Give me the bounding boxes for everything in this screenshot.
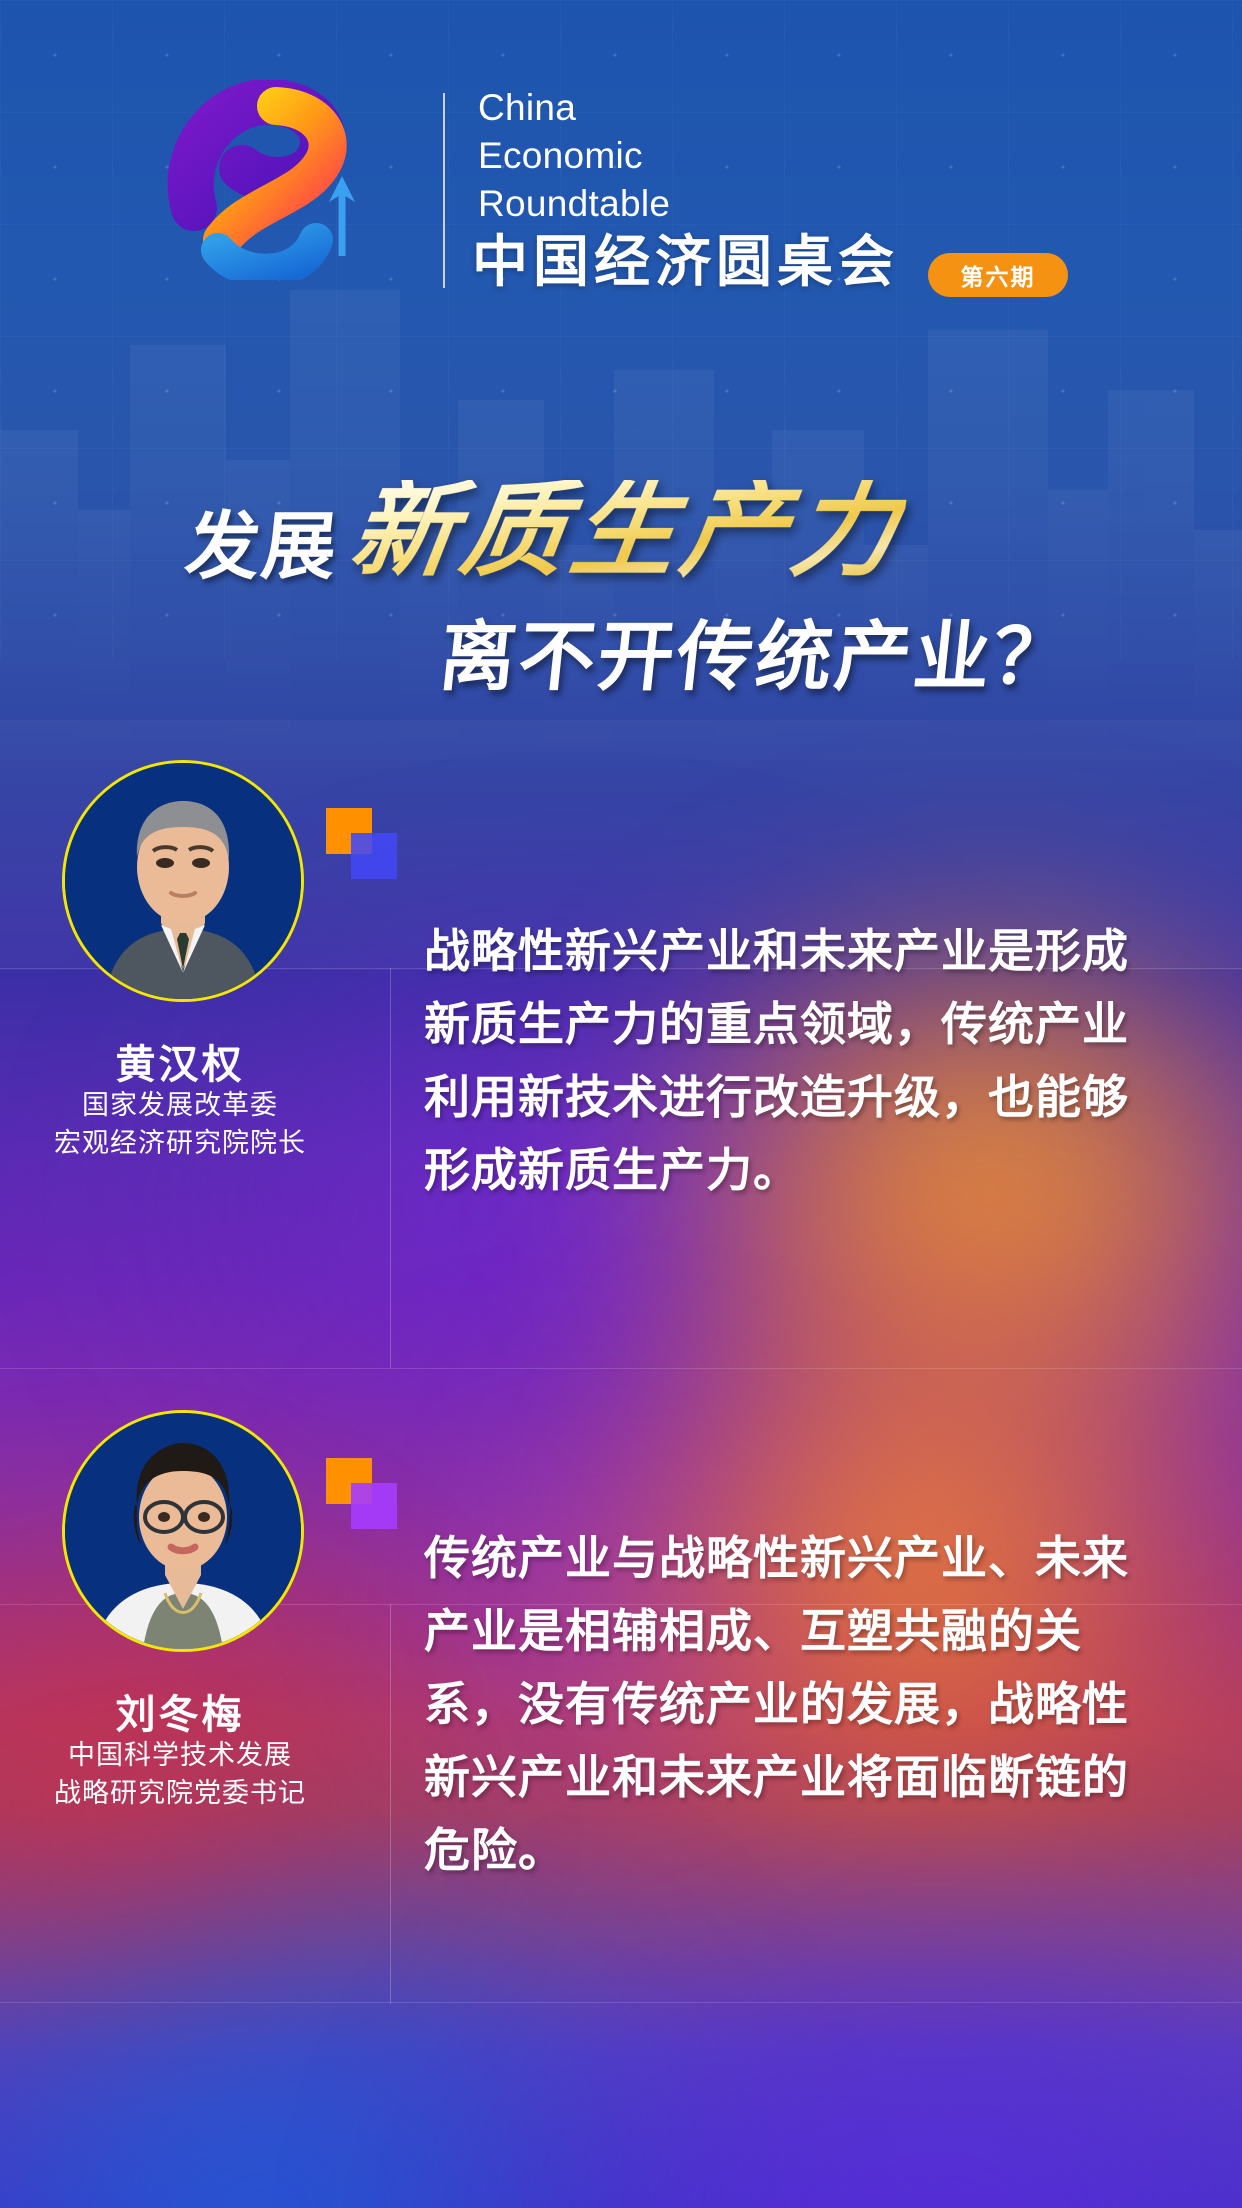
speaker-quote: 传统产业与战略性新兴产业、未来产业是相辅相成、互塑共融的关系，没有传统产业的发展…: [424, 1522, 1154, 1887]
speaker-role-line-2: 宏观经济研究院院长: [0, 1124, 360, 1162]
speaker-portrait-female-icon: [65, 1413, 301, 1649]
speaker-role-line-1: 国家发展改革委: [0, 1086, 360, 1124]
brand-en-line-2: Economic: [478, 132, 670, 180]
headline: 发展 新质生产力 离不开传统产业？: [0, 470, 1242, 770]
issue-badge: 第六期: [928, 253, 1068, 297]
speaker-role: 国家发展改革委 宏观经济研究院院长: [0, 1086, 360, 1162]
accent-square-violet: [351, 1483, 397, 1529]
avatar: [62, 760, 304, 1002]
brand-english: China Economic Roundtable: [478, 84, 670, 228]
headline-row-1: 发展 新质生产力: [186, 480, 902, 584]
speaker-name: 刘冬梅: [0, 1682, 360, 1740]
speaker-portrait-male-icon: [65, 763, 301, 999]
headline-plain-text: 发展: [182, 510, 342, 584]
accent-square-blue: [351, 833, 397, 879]
brand-en-line-1: China: [478, 84, 670, 132]
header: China Economic Roundtable 中国经济圆桌会 第六期: [0, 0, 1242, 330]
speaker-block-2: 刘冬梅 中国科学技术发展 战略研究院党委书记 传统产业与战略性新兴产业、未来产业…: [0, 1410, 1242, 1970]
speaker-name: 黄汉权: [0, 1032, 360, 1090]
speaker-role: 中国科学技术发展 战略研究院党委书记: [0, 1736, 360, 1812]
headline-gold-text: 新质生产力: [345, 480, 910, 584]
brand-en-line-3: Roundtable: [478, 180, 670, 228]
poster-root: China Economic Roundtable 中国经济圆桌会 第六期 发展…: [0, 0, 1242, 2208]
brand-divider: [443, 93, 445, 288]
avatar: [62, 1410, 304, 1652]
china-economic-roundtable-logo-icon: [156, 80, 406, 280]
headline-row-2: 离不开传统产业？: [436, 620, 1076, 696]
divider-line-4: [0, 2002, 1242, 2003]
speaker-role-line-2: 战略研究院党委书记: [0, 1774, 360, 1812]
speaker-role-line-1: 中国科学技术发展: [0, 1736, 360, 1774]
speaker-block-1: 黄汉权 国家发展改革委 宏观经济研究院院长 战略性新兴产业和未来产业是形成新质生…: [0, 760, 1242, 1280]
speaker-quote: 战略性新兴产业和未来产业是形成新质生产力的重点领域，传统产业利用新技术进行改造升…: [424, 915, 1154, 1207]
brand-chinese: 中国经济圆桌会: [472, 232, 899, 292]
divider-line-2: [0, 1368, 1242, 1369]
